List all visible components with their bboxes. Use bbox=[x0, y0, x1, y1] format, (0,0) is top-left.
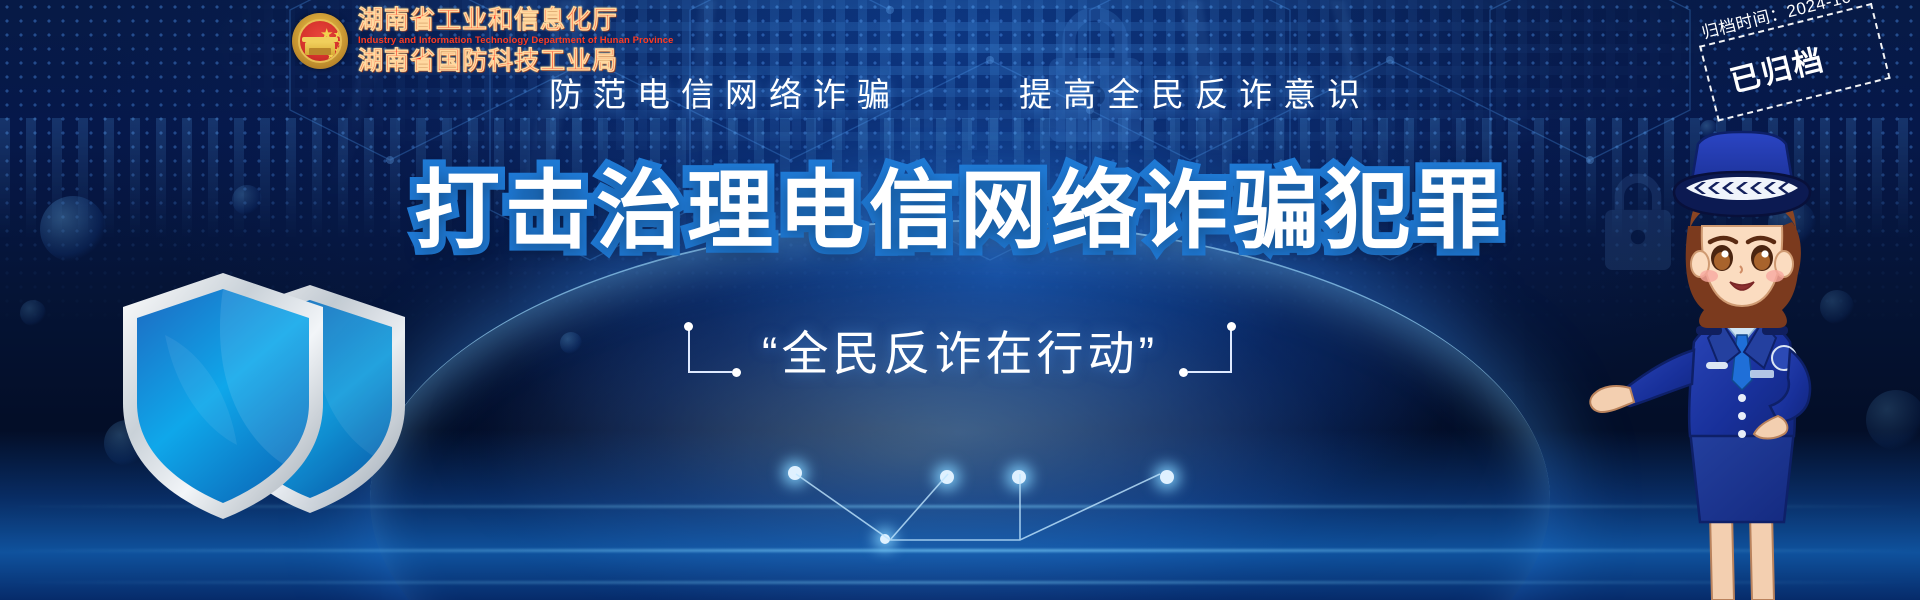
slogan-right: 提高全民反诈意识 bbox=[1019, 68, 1371, 116]
network-node bbox=[940, 470, 954, 484]
network-links bbox=[700, 440, 1260, 580]
officer-hat bbox=[1674, 132, 1810, 216]
slogan-left: 防范电信网络诈骗 bbox=[549, 68, 901, 116]
agency-name-english: Industry and Information Technology Depa… bbox=[358, 36, 674, 46]
officer-chest-badge bbox=[1750, 370, 1774, 378]
bracket-left-icon bbox=[688, 327, 740, 373]
national-emblem-icon: ★ ★ ★ ★ ★ bbox=[292, 13, 348, 69]
sub-quote-text: “全民反诈在行动” bbox=[762, 315, 1158, 384]
network-node bbox=[1160, 470, 1174, 484]
slogan-row: 防范电信网络诈骗 提高全民反诈意识 bbox=[0, 68, 1920, 116]
globe-graphic bbox=[370, 220, 1550, 600]
network-node bbox=[880, 534, 890, 544]
officer-skirt bbox=[1690, 430, 1794, 522]
anti-fraud-banner: ★ ★ ★ ★ ★ 湖南省工业和信息化厅 Industry and Inform… bbox=[0, 0, 1920, 600]
officer-name-badge bbox=[1706, 362, 1728, 369]
shield-group bbox=[105, 245, 415, 545]
police-officer-illustration bbox=[1582, 130, 1912, 600]
bracket-right-icon bbox=[1180, 327, 1232, 373]
agency-identity: ★ ★ ★ ★ ★ 湖南省工业和信息化厅 Industry and Inform… bbox=[292, 8, 674, 74]
officer-left-hand bbox=[1590, 386, 1634, 412]
main-title-text: 打击治理电信网络诈骗犯罪 bbox=[414, 140, 1506, 265]
network-node bbox=[788, 466, 802, 480]
network-node bbox=[1012, 470, 1026, 484]
officer-legs bbox=[1710, 512, 1774, 600]
agency-name-line1: 湖南省工业和信息化厅 bbox=[358, 8, 674, 33]
